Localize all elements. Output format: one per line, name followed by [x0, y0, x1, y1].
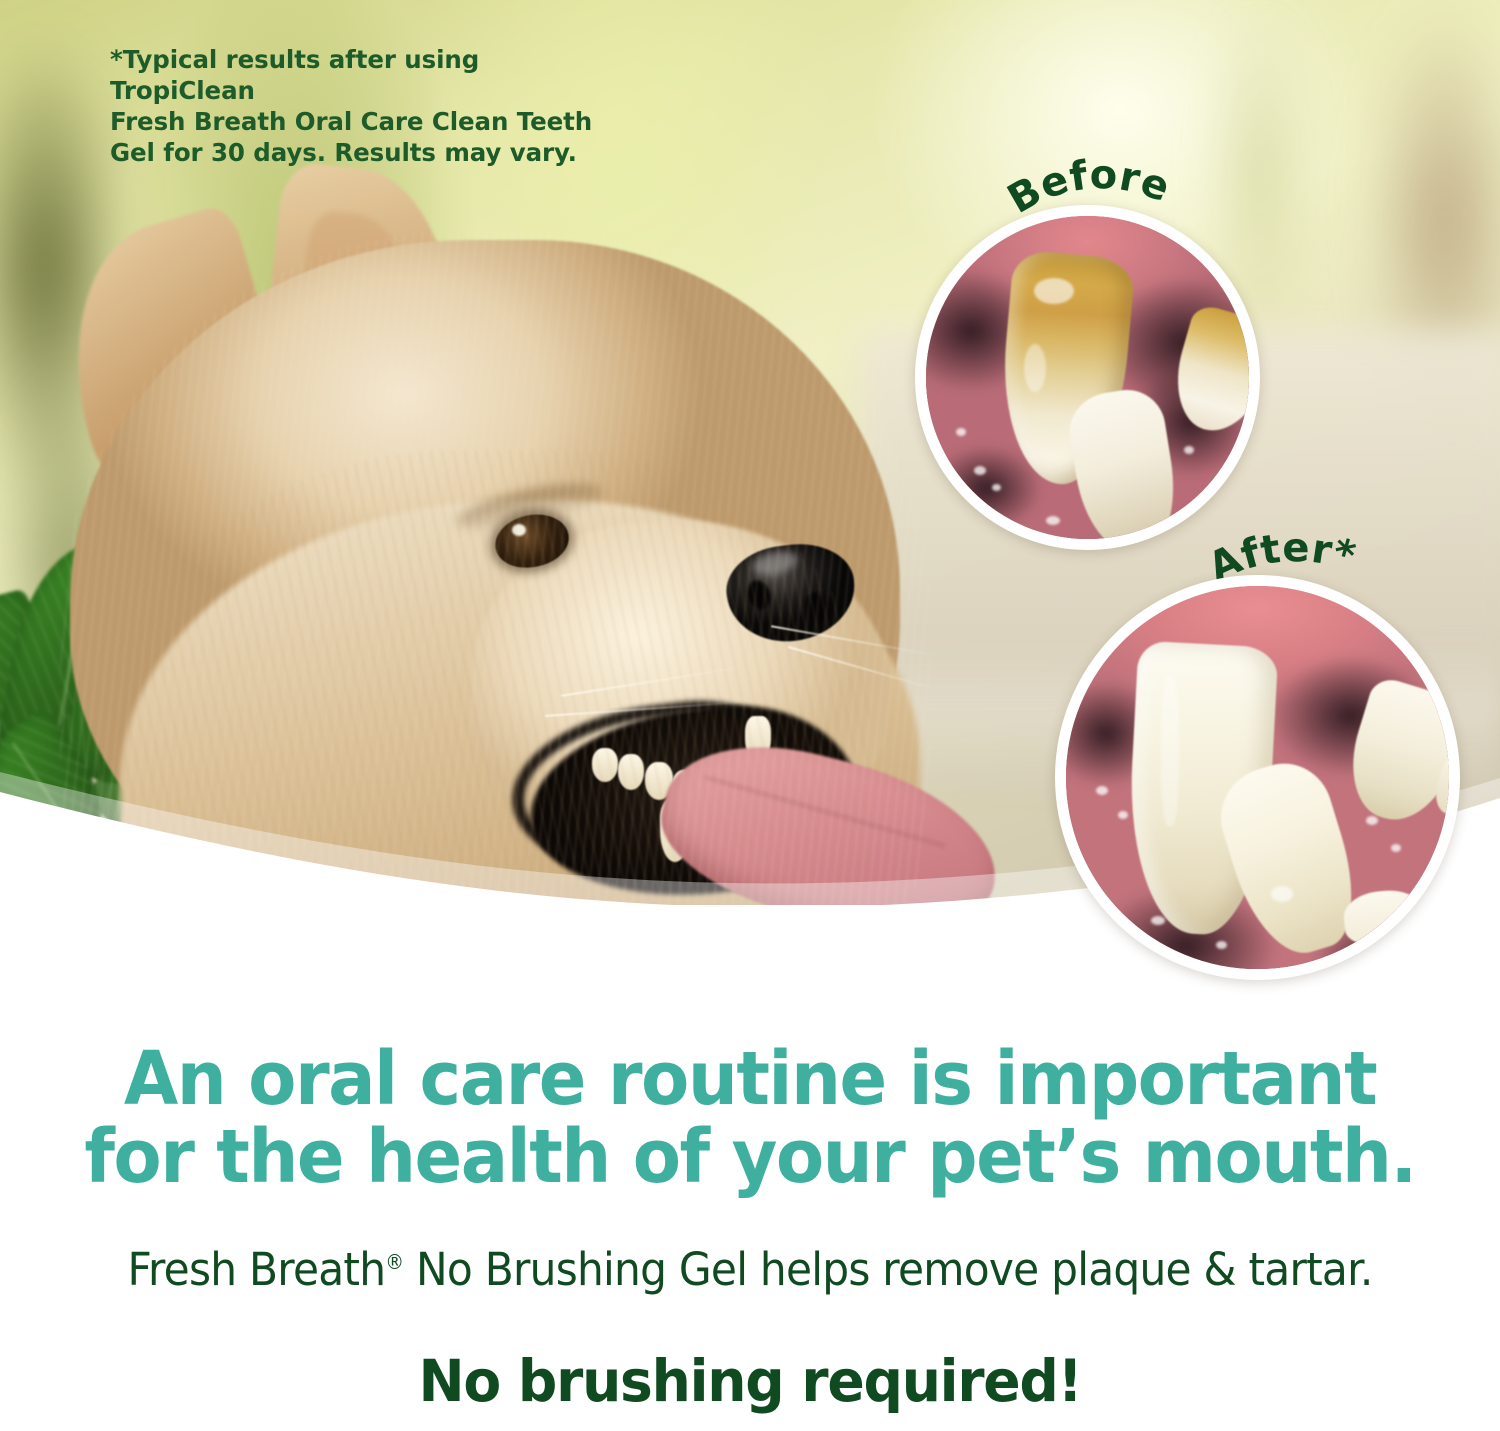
gum-pigment	[931, 446, 1041, 531]
subline-suffix: No Brushing Gel helps remove plaque & ta…	[403, 1243, 1372, 1296]
tagline: No brushing required!	[38, 1348, 1463, 1414]
tooth-highlight	[1271, 886, 1293, 902]
saliva-speck	[956, 428, 966, 436]
before-comparison: Before	[905, 150, 1275, 560]
registered-mark: ®	[385, 1250, 403, 1274]
before-photo	[915, 205, 1260, 550]
headline: An oral care routine is important for th…	[38, 1040, 1463, 1196]
after-photo	[1055, 575, 1460, 980]
disclaimer-line-3: Gel for 30 days. Results may vary.	[110, 137, 630, 168]
tooth-highlight	[1024, 344, 1046, 392]
saliva-speck	[1366, 816, 1378, 825]
saliva-speck	[1184, 446, 1194, 454]
subline-prefix: Fresh Breath	[127, 1243, 385, 1296]
tooth-highlight	[1161, 676, 1179, 826]
promo-image: Before Aft	[0, 0, 1500, 1431]
saliva-speck	[992, 484, 1001, 491]
headline-line-1: An oral care routine is important	[38, 1040, 1463, 1118]
saliva-speck	[974, 466, 986, 475]
subline: Fresh Breath® No Brushing Gel helps remo…	[45, 1236, 1455, 1296]
after-comparison: After*	[1045, 520, 1475, 995]
tooth-highlight	[1034, 278, 1074, 304]
headline-line-2: for the health of your pet’s mouth.	[38, 1118, 1463, 1196]
saliva-speck	[1118, 811, 1128, 819]
saliva-speck	[1216, 941, 1227, 949]
disclaimer-line-2: Fresh Breath Oral Care Clean Teeth	[110, 106, 630, 137]
saliva-speck	[1096, 786, 1108, 795]
disclaimer-line-1: *Typical results after using TropiClean	[110, 44, 630, 106]
disclaimer-text: *Typical results after using TropiClean …	[110, 44, 630, 168]
saliva-speck	[1151, 916, 1165, 925]
saliva-speck	[1391, 844, 1401, 852]
